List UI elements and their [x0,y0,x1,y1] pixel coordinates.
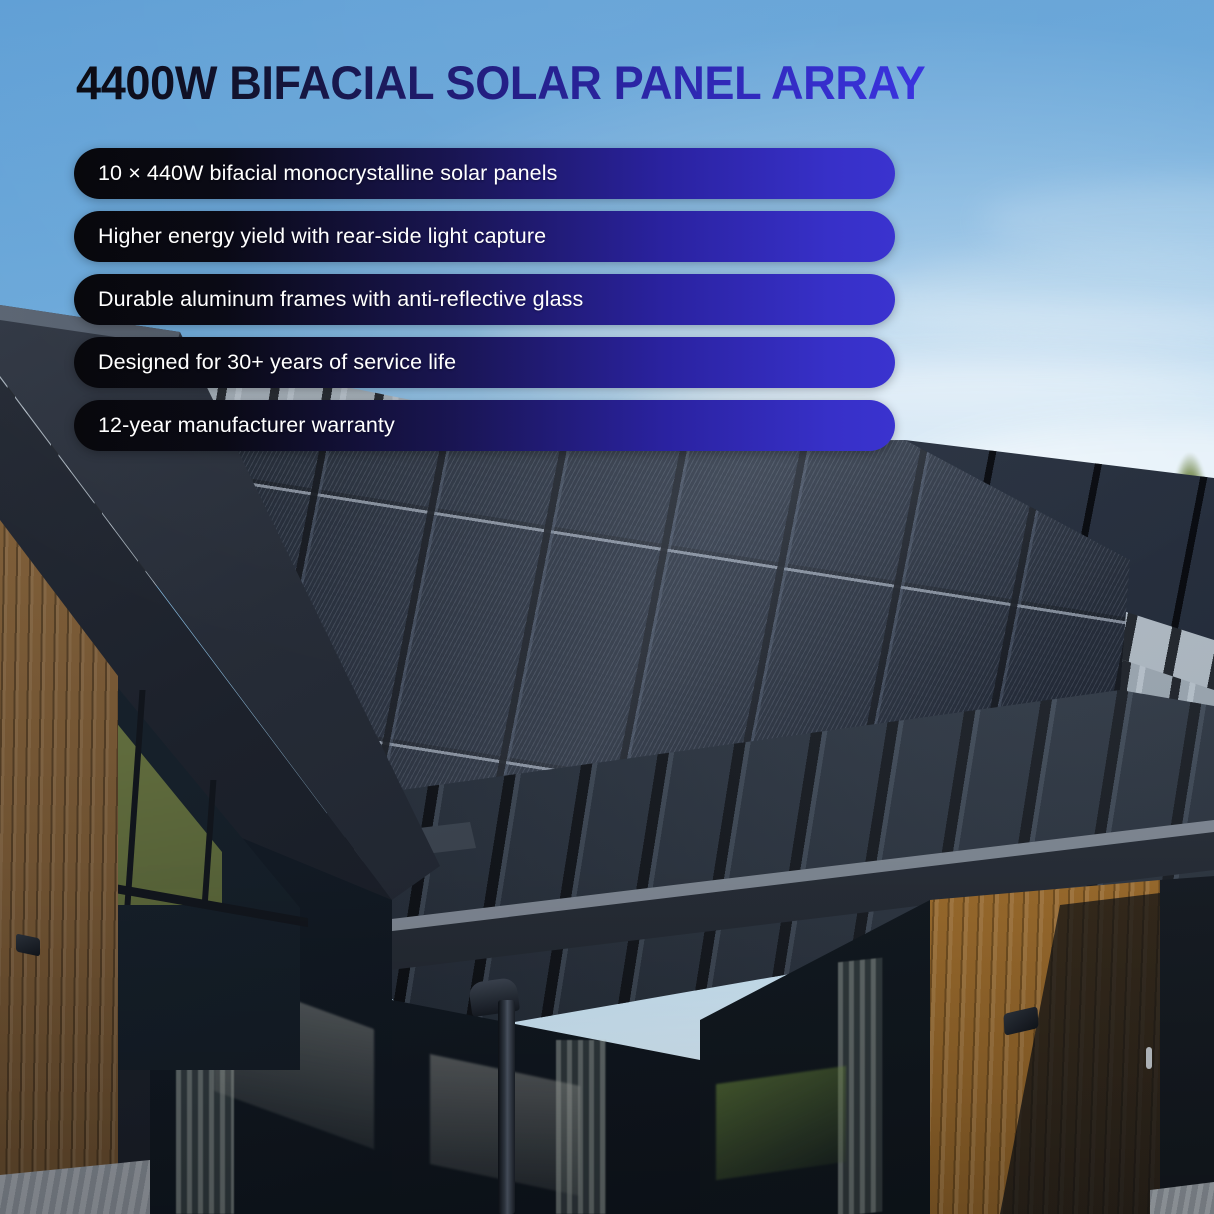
feature-pill-label: Durable aluminum frames with anti-reflec… [74,287,583,312]
feature-list: 10 × 440W bifacial monocrystalline solar… [74,148,895,451]
feature-pill: 12-year manufacturer warranty [74,400,895,451]
feature-pill-label: 10 × 440W bifacial monocrystalline solar… [74,161,557,186]
feature-pill: Higher energy yield with rear-side light… [74,211,895,262]
page-title: 4400W BIFACIAL SOLAR PANEL ARRAY [76,54,925,112]
feature-pill-label: Higher energy yield with rear-side light… [74,224,546,249]
promo-banner: 4400W BIFACIAL SOLAR PANEL ARRAY 10 × 44… [0,0,1214,1214]
feature-pill-label: 12-year manufacturer warranty [74,413,395,438]
feature-pill: Durable aluminum frames with anti-reflec… [74,274,895,325]
text-overlay: 4400W BIFACIAL SOLAR PANEL ARRAY 10 × 44… [0,0,1214,1214]
feature-pill: 10 × 440W bifacial monocrystalline solar… [74,148,895,199]
feature-pill-label: Designed for 30+ years of service life [74,350,456,375]
feature-pill: Designed for 30+ years of service life [74,337,895,388]
